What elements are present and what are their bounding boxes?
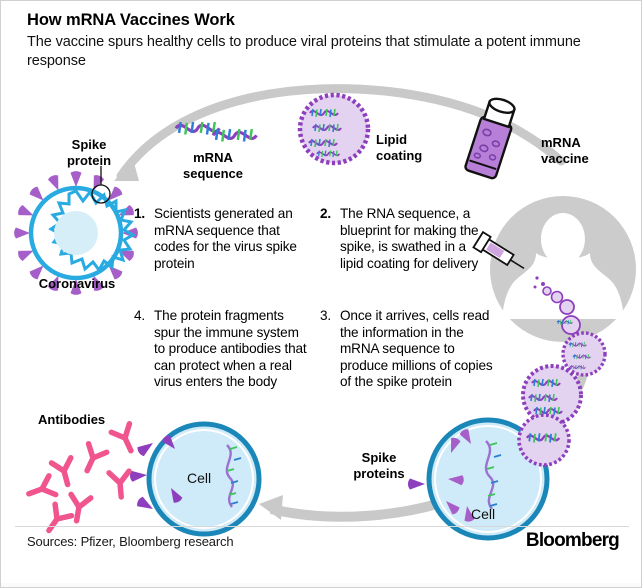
step-1-text: Scientists generated an mRNA sequence th… [154, 206, 302, 272]
spike-proteins-label: Spike proteins [341, 450, 417, 481]
mrna-strand-icon [213, 129, 256, 141]
footer-divider [15, 526, 629, 527]
infographic-artwork [1, 1, 642, 588]
lipid-particle-icon [300, 95, 368, 163]
step-1: 1. Scientists generated an mRNA sequence… [134, 206, 302, 272]
step-3-text: Once it arrives, cells read the informat… [340, 308, 496, 391]
step-2-number: 2. [320, 206, 331, 223]
step-2-text: The RNA sequence, a blueprint for making… [340, 206, 490, 272]
mrna-sequence-label: mRNA sequence [163, 150, 263, 181]
antibody-icon [25, 424, 140, 536]
step-4: 4. The protein fragments spur the immune… [134, 308, 308, 391]
step-2: 2. The RNA sequence, a blueprint for mak… [320, 206, 490, 272]
antibodies-label: Antibodies [38, 412, 148, 428]
lipid-coating-label: Lipid coating [376, 132, 456, 163]
flow-arrow-icon [259, 495, 453, 520]
cell-label-left: Cell [187, 470, 211, 486]
coronavirus-label: Coronavirus [18, 276, 136, 292]
step-3: 3. Once it arrives, cells read the infor… [320, 308, 496, 391]
cell-label-right: Cell [471, 506, 495, 522]
bloomberg-logo: Bloomberg [526, 530, 619, 552]
bottom-edge [1, 583, 642, 587]
step-3-number: 3. [320, 308, 331, 325]
spike-protein-label: Spike protein [51, 137, 127, 168]
lipid-particle-icon [519, 415, 569, 465]
step-1-number: 1. [134, 206, 145, 223]
infographic-page: How mRNA Vaccines Work The vaccine spurs… [0, 0, 642, 588]
mrna-vaccine-label: mRNA vaccine [541, 135, 631, 166]
sources-text: Sources: Pfizer, Bloomberg research [27, 534, 233, 549]
step-4-number: 4. [134, 308, 145, 325]
step-4-text: The protein fragments spur the immune sy… [154, 308, 308, 391]
